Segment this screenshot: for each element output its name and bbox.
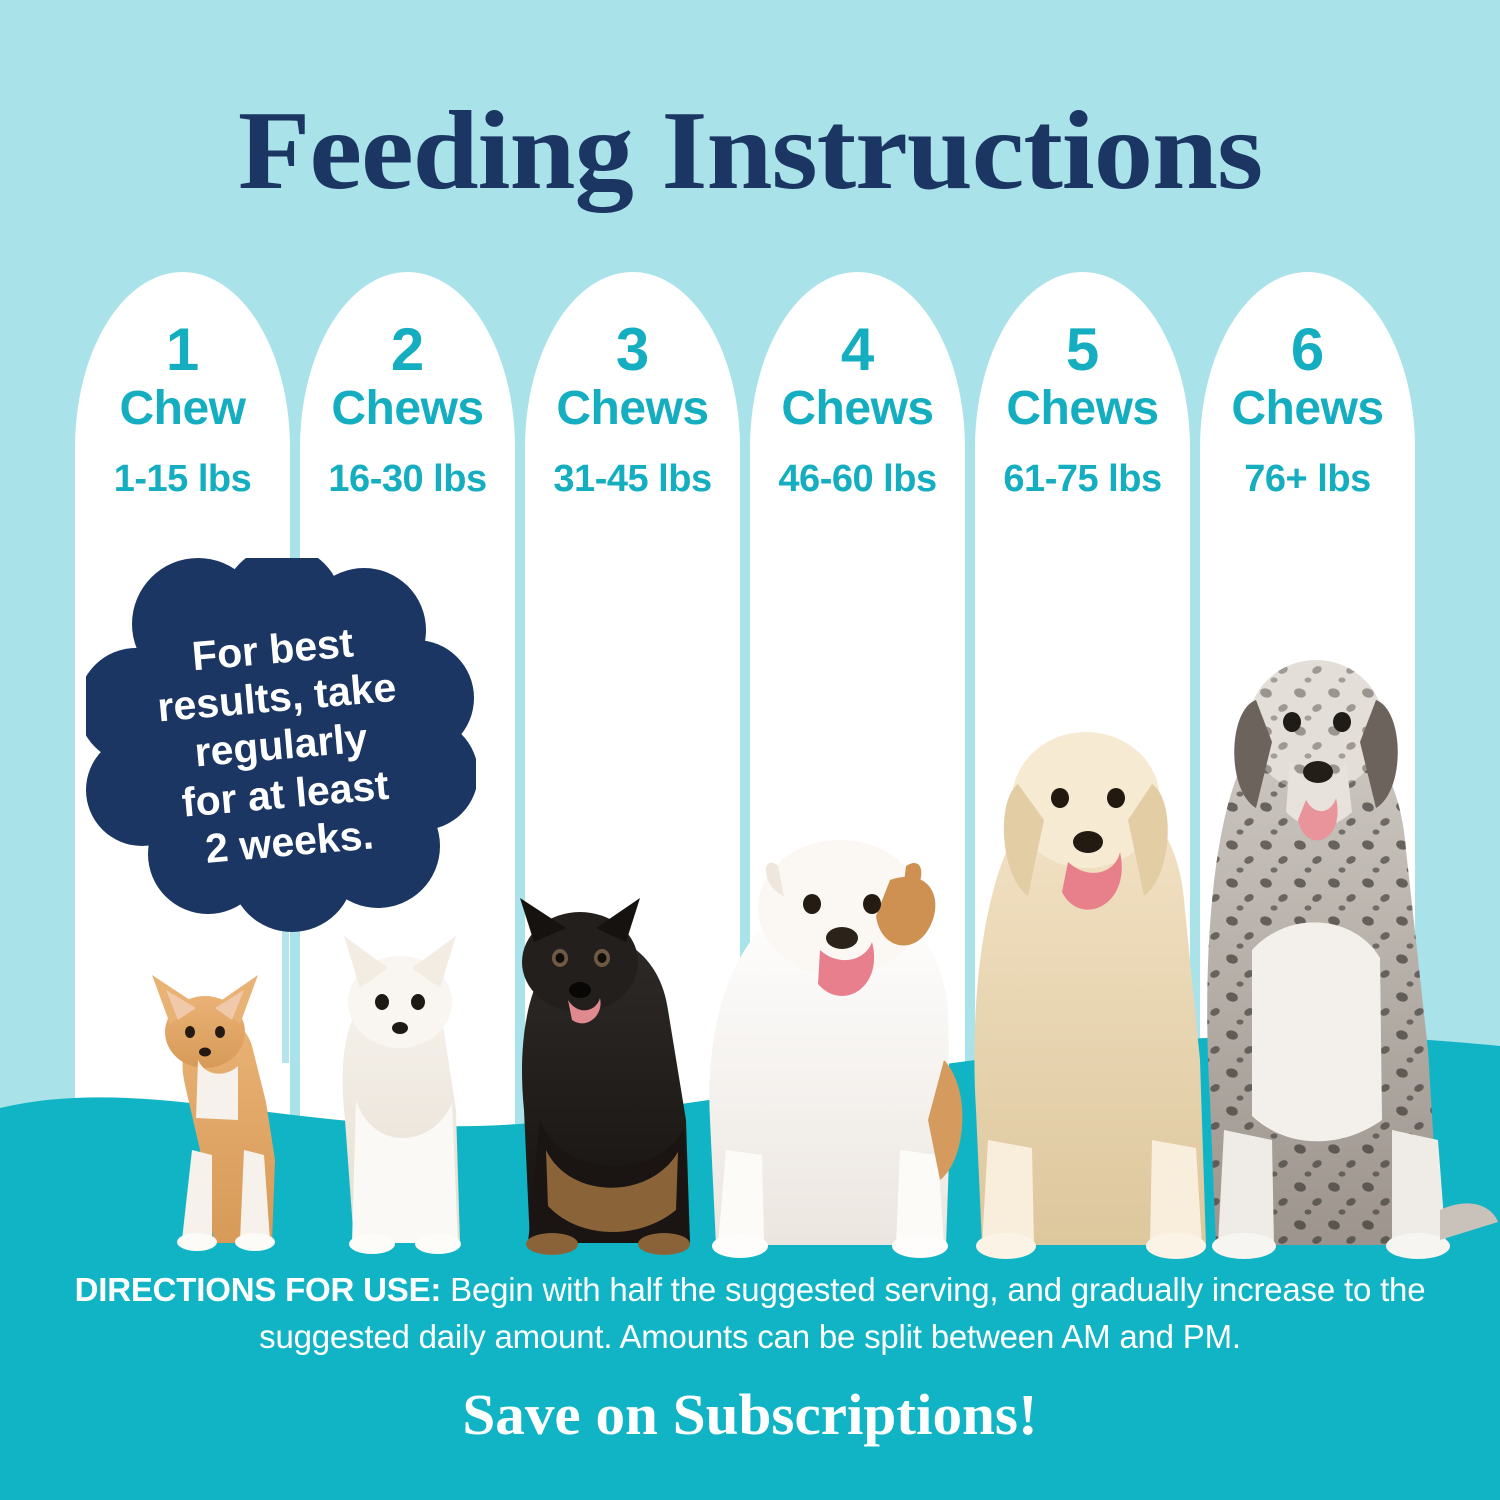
dosage-weight-range: 61-75 lbs [975, 460, 1190, 498]
dosage-chews-label: Chews [750, 385, 965, 433]
dosage-weight-range: 31-45 lbs [525, 460, 740, 498]
badge-text: For best results, take regularly for at … [70, 542, 491, 950]
badge-line-4-prefix: for [180, 774, 250, 826]
dosage-weight-range: 16-30 lbs [300, 460, 515, 498]
dosage-chews-label: Chews [525, 385, 740, 433]
badge-stick [282, 913, 289, 1063]
dosage-chews-label: Chew [75, 385, 290, 433]
dosage-number: 3 [525, 320, 740, 380]
save-on-subscriptions-cta[interactable]: Save on Subscriptions! [0, 1386, 1500, 1444]
dosage-number: 4 [750, 320, 965, 380]
dosage-chews-label: Chews [300, 385, 515, 433]
dosage-number: 6 [1200, 320, 1415, 380]
best-results-badge: For best results, take regularly for at … [86, 558, 476, 933]
page-title: Feeding Instructions [0, 95, 1500, 207]
dosage-number: 2 [300, 320, 515, 380]
dosage-weight-range: 1-15 lbs [75, 460, 290, 498]
dosage-number: 5 [975, 320, 1190, 380]
dosage-chews-label: Chews [975, 385, 1190, 433]
directions-label: DIRECTIONS FOR USE: [75, 1271, 442, 1308]
feeding-instructions-infographic: Feeding Instructions 1 Chew 1-15 lbs 2 C… [0, 0, 1500, 1500]
dosage-chews-label: Chews [1200, 385, 1415, 433]
directions-for-use: DIRECTIONS FOR USE: Begin with half the … [60, 1267, 1440, 1361]
dosage-weight-range: 76+ lbs [1200, 460, 1415, 498]
dosage-number: 1 [75, 320, 290, 380]
dosage-weight-range: 46-60 lbs [750, 460, 965, 498]
